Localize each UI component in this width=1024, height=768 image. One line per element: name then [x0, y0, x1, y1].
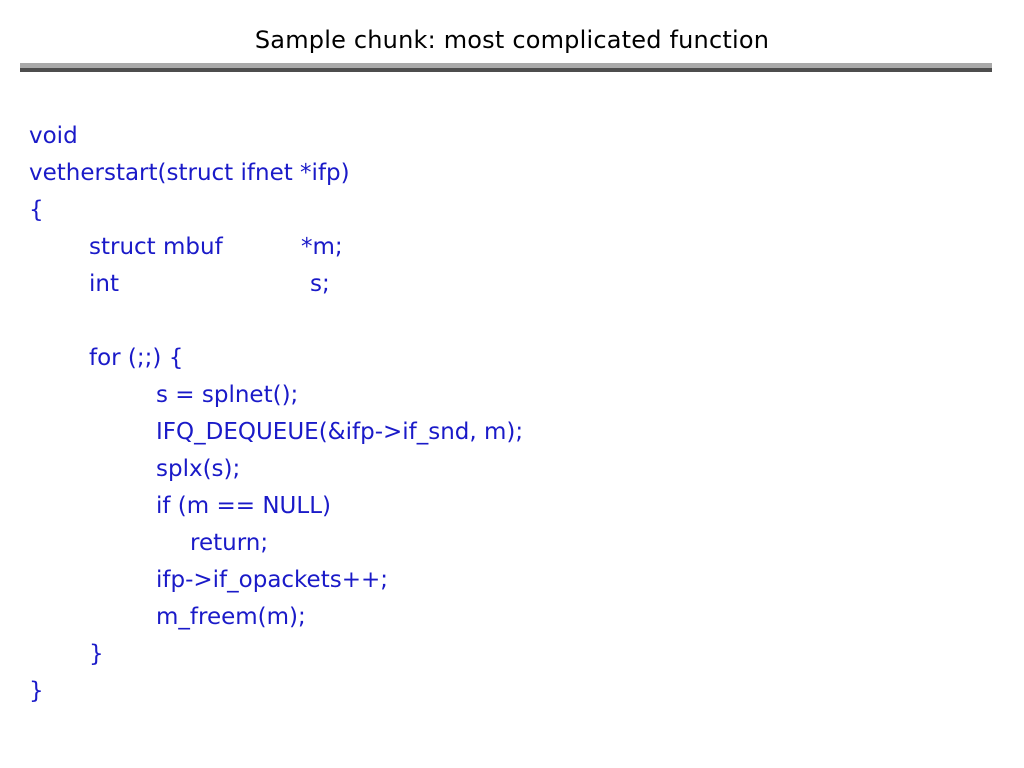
code-line: s = splnet();: [0, 377, 1024, 414]
code-line: ints;: [0, 266, 1024, 303]
code-line: struct mbuf*m;: [0, 229, 1024, 266]
code-block: voidvetherstart(struct ifnet *ifp){struc…: [0, 118, 1024, 710]
code-line: {: [0, 192, 1024, 229]
declaration-name: s;: [310, 266, 330, 303]
slide: Sample chunk: most complicated function …: [0, 0, 1024, 768]
declaration-name: *m;: [301, 229, 343, 266]
code-line: return;: [0, 525, 1024, 562]
declaration-type: int: [89, 266, 119, 303]
code-line: void: [0, 118, 1024, 155]
code-line: IFQ_DEQUEUE(&ifp->if_snd, m);: [0, 414, 1024, 451]
code-line: }: [0, 636, 1024, 673]
code-line: for (;;) {: [0, 340, 1024, 377]
declaration-type: struct mbuf: [89, 229, 223, 266]
title-divider-rule: [20, 63, 992, 72]
code-line: if (m == NULL): [0, 488, 1024, 525]
code-line: m_freem(m);: [0, 599, 1024, 636]
divider-shadow-band: [20, 68, 992, 72]
code-line: }: [0, 673, 1024, 710]
code-line: [0, 303, 1024, 340]
code-line: splx(s);: [0, 451, 1024, 488]
code-line: vetherstart(struct ifnet *ifp): [0, 155, 1024, 192]
slide-title: Sample chunk: most complicated function: [0, 25, 1024, 55]
code-line: ifp->if_opackets++;: [0, 562, 1024, 599]
